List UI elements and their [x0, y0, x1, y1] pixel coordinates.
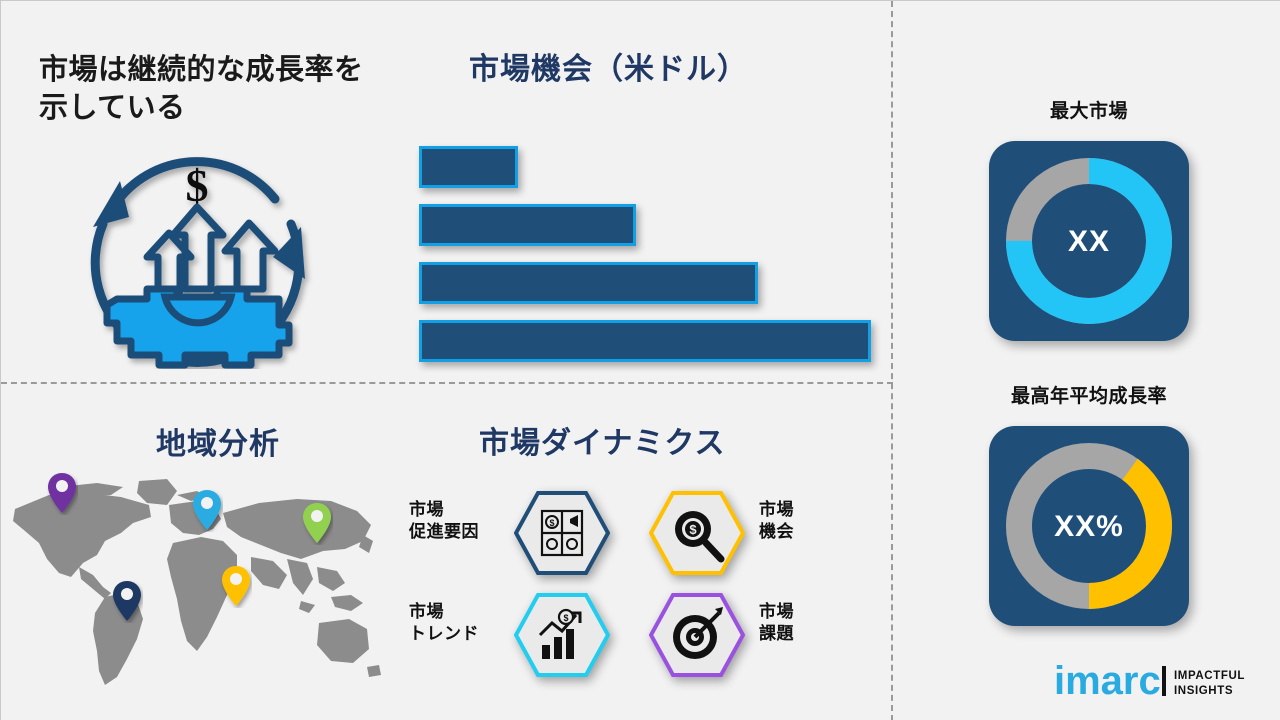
bar-3 [419, 262, 758, 304]
largest-market-caption: 最大市場 [974, 96, 1204, 123]
largest-market-value: XX [989, 225, 1189, 259]
pin-north-america[interactable] [46, 471, 78, 520]
dynamics-label-challenges: 市場 課題 [759, 601, 851, 645]
hexagon-challenges[interactable] [649, 593, 745, 677]
pin-south-america[interactable] [111, 579, 143, 628]
logo-wordmark: imarc [1054, 659, 1161, 703]
highest-cagr-card: XX% [989, 426, 1189, 626]
bar-2 [419, 204, 636, 246]
market-opportunity-title: 市場機会（米ドル） [469, 51, 748, 89]
pin-europe[interactable] [191, 488, 223, 537]
hexagon-trends[interactable]: $ [514, 593, 610, 677]
svg-text:$: $ [186, 160, 209, 211]
vertical-divider [891, 1, 893, 720]
logo-tagline-line2: INSIGHTS [1174, 685, 1233, 697]
market-dynamics-title: 市場ダイナミクス [479, 425, 726, 463]
pin-middle-east[interactable] [220, 564, 252, 613]
bar-1 [419, 146, 518, 188]
svg-text:$: $ [689, 522, 697, 537]
dynamics-label-trends: 市場 トレンド [409, 601, 505, 645]
horizontal-divider [1, 382, 893, 384]
svg-text:$: $ [563, 613, 568, 623]
svg-text:$: $ [549, 518, 554, 528]
growth-statement-title: 市場は継続的な成長率を示している [39, 51, 389, 128]
growth-cycle-gear-icon: $ [73, 129, 321, 369]
hexagon-drivers[interactable]: $ [514, 491, 610, 575]
pin-east-asia[interactable] [301, 501, 333, 550]
regional-analysis-title: 地域分析 [156, 426, 280, 464]
dynamics-label-drivers: 市場 促進要因 [409, 499, 501, 543]
market-opportunity-bar-chart [419, 146, 889, 356]
imarc-logo: imarc IMPACTFUL INSIGHTS [1054, 656, 1264, 704]
logo-tagline-line1: IMPACTFUL [1174, 670, 1245, 682]
bar-4 [419, 320, 871, 362]
highest-cagr-caption: 最高年平均成長率 [974, 381, 1204, 408]
largest-market-card: XX [989, 141, 1189, 341]
highest-cagr-value: XX% [989, 510, 1189, 544]
dynamics-label-opportunities: 市場 機会 [759, 499, 851, 543]
slide-canvas: 市場は継続的な成長率を示している $ [0, 0, 1280, 720]
hexagon-opportunities[interactable]: $ [649, 491, 745, 575]
